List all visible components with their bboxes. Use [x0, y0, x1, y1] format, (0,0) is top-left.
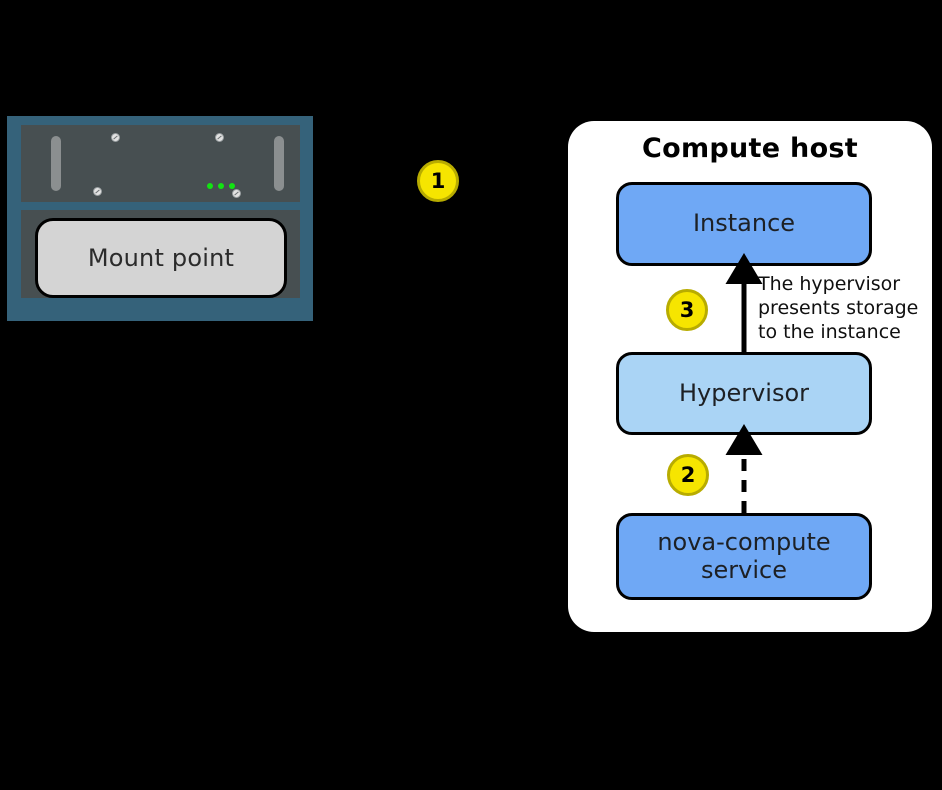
rack-unit-top [21, 125, 300, 202]
status-led-icon [229, 183, 235, 189]
mount-point-box[interactable]: Mount point [35, 218, 287, 298]
rack-handle-left-icon [51, 136, 61, 191]
status-led-icon [218, 183, 224, 189]
diagram-canvas: Mount point 1 Compute host Instance Hype… [0, 0, 942, 790]
compute-host-panel: Compute host Instance Hypervisor nova-co… [568, 121, 932, 632]
node-nova-compute[interactable]: nova-compute service [616, 513, 872, 600]
rack-screw-icon [111, 133, 120, 142]
node-hypervisor[interactable]: Hypervisor [616, 352, 872, 435]
compute-host-title: Compute host [568, 133, 932, 164]
step-badge-3: 3 [666, 289, 708, 331]
rack-screw-icon [93, 187, 102, 196]
rack-screw-icon [232, 189, 241, 198]
storage-array: Mount point [7, 116, 313, 321]
rack-screw-icon [215, 133, 224, 142]
status-led-icon [207, 183, 213, 189]
node-instance[interactable]: Instance [616, 182, 872, 266]
step-badge-1: 1 [417, 160, 459, 202]
step-badge-2: 2 [667, 454, 709, 496]
hypervisor-annotation: The hypervisor presents storage to the i… [758, 273, 936, 345]
rack-handle-right-icon [274, 136, 284, 191]
